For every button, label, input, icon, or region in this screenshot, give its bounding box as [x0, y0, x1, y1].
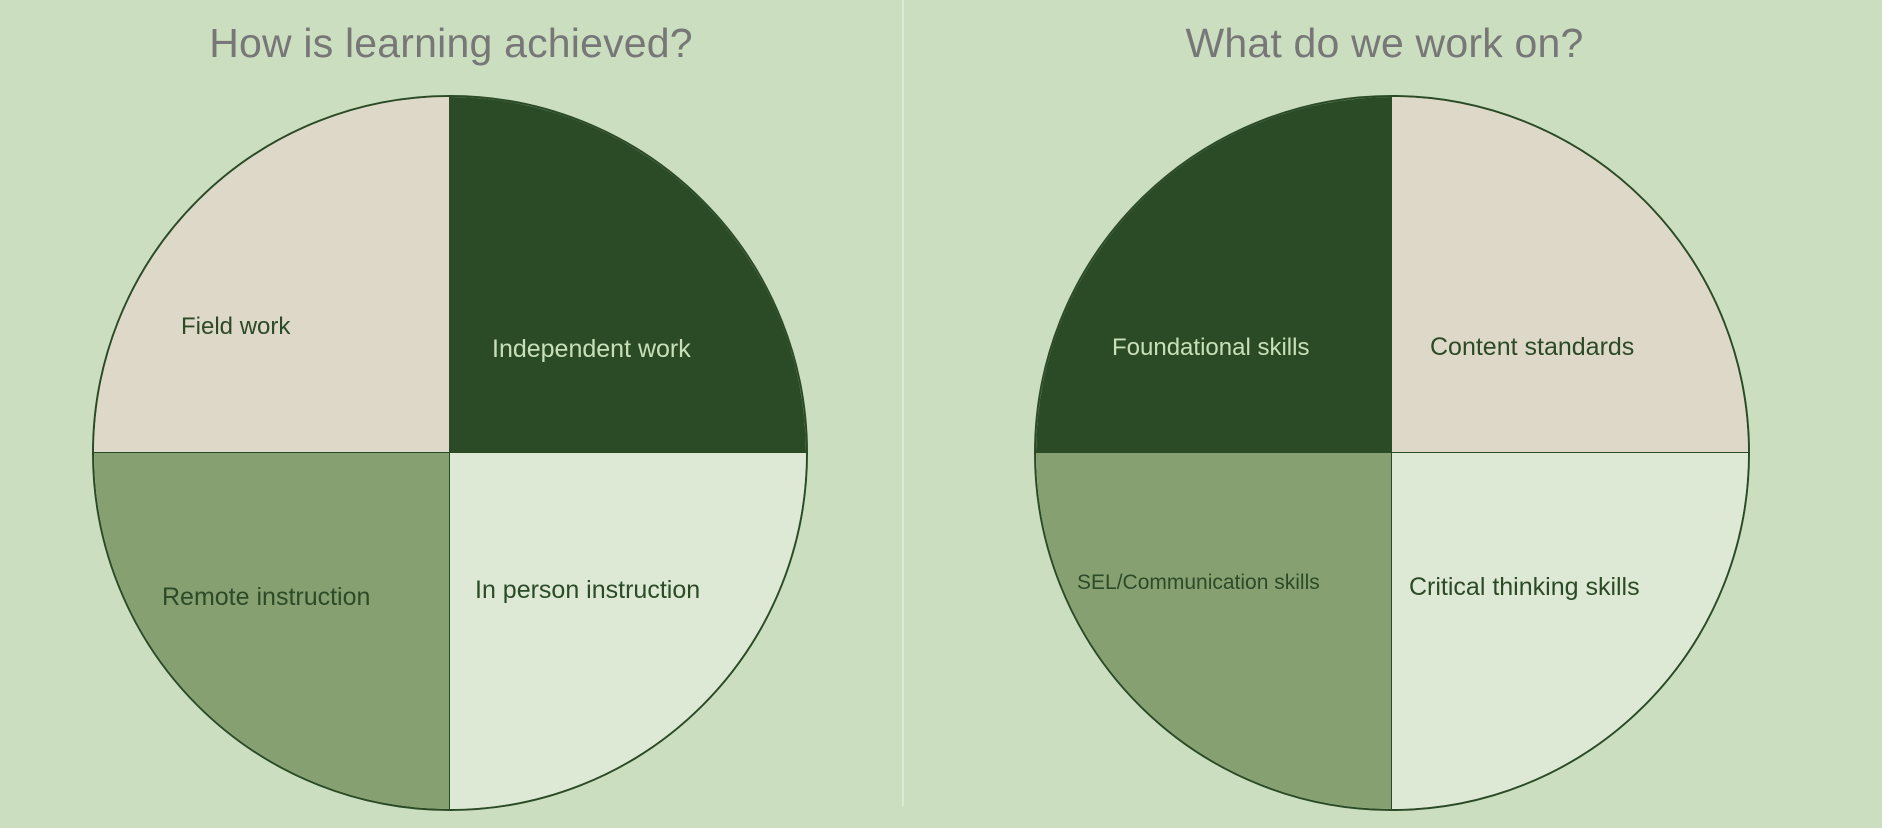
slide-canvas: How is learning achieved? Field work Ind…: [0, 0, 1882, 828]
left-slice-field-work-label: Field work: [181, 315, 290, 339]
left-slice-remote-instruction-label: Remote instruction: [162, 585, 370, 610]
right-slice-critical-thinking-skills[interactable]: Critical thinking skills: [1392, 453, 1748, 809]
left-chart-title: How is learning achieved?: [0, 20, 902, 67]
left-pie-chart: Field work Independent work Remote instr…: [92, 95, 808, 811]
right-chart-panel: What do we work on? Foundational skills …: [903, 0, 1882, 828]
left-slice-in-person-instruction[interactable]: In person instruction: [450, 453, 806, 809]
right-slice-content-standards-label: Content standards: [1430, 335, 1634, 360]
right-pie-chart: Foundational skills Content standards SE…: [1034, 95, 1750, 811]
left-chart-panel: How is learning achieved? Field work Ind…: [0, 0, 902, 828]
right-slice-critical-thinking-skills-label: Critical thinking skills: [1409, 575, 1640, 600]
right-slice-foundational-skills-label: Foundational skills: [1112, 336, 1309, 360]
left-slice-remote-instruction[interactable]: Remote instruction: [94, 453, 450, 809]
right-slice-content-standards[interactable]: Content standards: [1392, 97, 1748, 453]
right-chart-title: What do we work on?: [895, 20, 1874, 67]
left-slice-in-person-instruction-label: In person instruction: [475, 578, 700, 603]
left-slice-independent-work-label: Independent work: [492, 337, 691, 362]
left-slice-field-work[interactable]: Field work: [94, 97, 450, 453]
right-slice-sel-communication-skills-label: SEL/Communication skills: [1077, 572, 1320, 593]
left-slice-independent-work[interactable]: Independent work: [450, 97, 806, 453]
right-slice-foundational-skills[interactable]: Foundational skills: [1036, 97, 1392, 453]
right-slice-sel-communication-skills[interactable]: SEL/Communication skills: [1036, 453, 1392, 809]
